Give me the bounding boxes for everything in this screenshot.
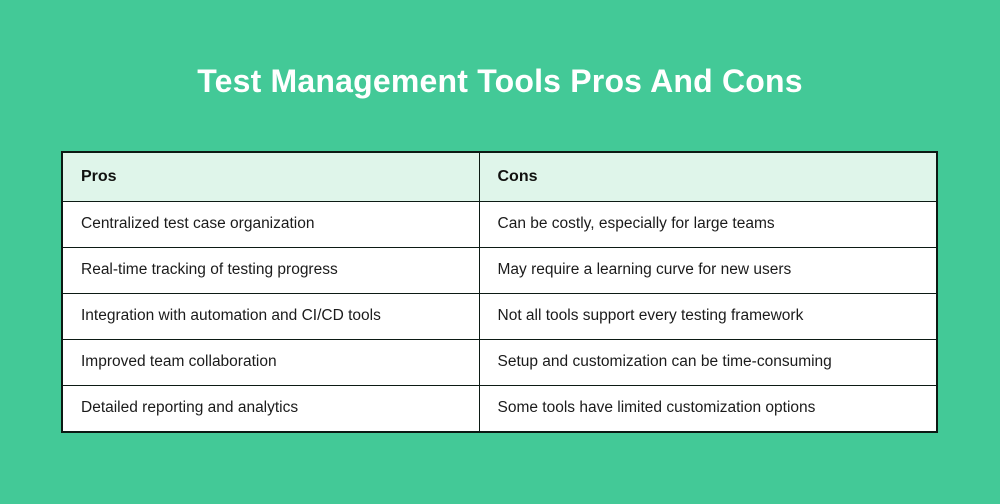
cell-cons: Not all tools support every testing fram…	[479, 293, 936, 339]
table-header-row: Pros Cons	[63, 153, 936, 201]
cell-cons: Setup and customization can be time-cons…	[479, 339, 936, 385]
page-title: Test Management Tools Pros And Cons	[0, 60, 1000, 102]
column-header-pros: Pros	[63, 153, 479, 201]
table-row: Detailed reporting and analytics Some to…	[63, 385, 936, 431]
cell-pros: Real-time tracking of testing progress	[63, 247, 479, 293]
cell-cons: Can be costly, especially for large team…	[479, 201, 936, 247]
table-row: Centralized test case organization Can b…	[63, 201, 936, 247]
table-row: Real-time tracking of testing progress M…	[63, 247, 936, 293]
column-header-cons: Cons	[479, 153, 936, 201]
pros-cons-table-container: Pros Cons Centralized test case organiza…	[61, 151, 938, 433]
table-body: Centralized test case organization Can b…	[63, 201, 936, 431]
table-row: Integration with automation and CI/CD to…	[63, 293, 936, 339]
cell-pros: Integration with automation and CI/CD to…	[63, 293, 479, 339]
table-row: Improved team collaboration Setup and cu…	[63, 339, 936, 385]
cell-cons: Some tools have limited customization op…	[479, 385, 936, 431]
cell-cons: May require a learning curve for new use…	[479, 247, 936, 293]
cell-pros: Centralized test case organization	[63, 201, 479, 247]
table-header: Pros Cons	[63, 153, 936, 201]
page-root: Test Management Tools Pros And Cons Pros…	[0, 0, 1000, 504]
cell-pros: Improved team collaboration	[63, 339, 479, 385]
cell-pros: Detailed reporting and analytics	[63, 385, 479, 431]
pros-cons-table: Pros Cons Centralized test case organiza…	[63, 153, 936, 431]
